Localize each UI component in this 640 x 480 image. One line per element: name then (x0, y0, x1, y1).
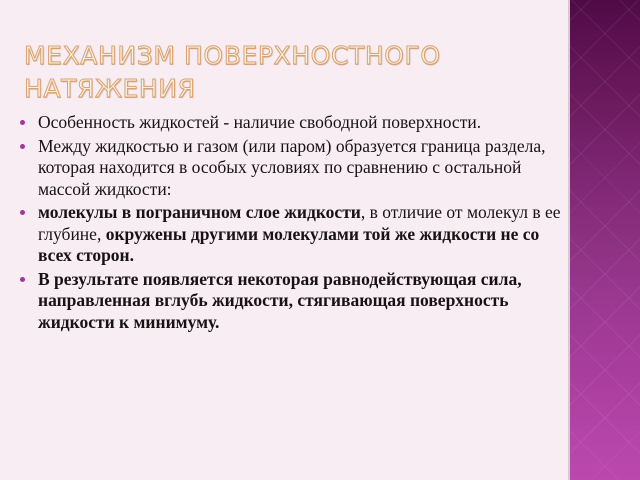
text-run: Между жидкостью и газом (или паром) обра… (38, 136, 545, 199)
list-item-text: молекулы в пограничном слое жидкости, в … (38, 202, 561, 265)
diamond-pattern-overlay (570, 0, 640, 480)
text-run-bold: молекулы в пограничном слое жидкости (38, 202, 361, 222)
bullet-dot-icon (20, 120, 25, 125)
slide-title: Механизм поверхностного натяжения (24, 39, 544, 105)
presentation-slide: Механизм поверхностного натяжения Особен… (0, 0, 640, 480)
list-item-text: Между жидкостью и газом (или паром) обра… (38, 136, 545, 199)
list-item: В результате появляется некоторая равнод… (14, 269, 562, 334)
band-edge-divider (568, 0, 570, 480)
list-item: Особенность жидкостей - наличие свободно… (14, 112, 562, 134)
bullet-dot-icon (20, 210, 25, 215)
decorative-purple-band (570, 0, 640, 480)
text-run: Особенность жидкостей - наличие свободно… (38, 112, 481, 132)
text-run-bold: В результате появляется некоторая равнод… (38, 269, 522, 332)
list-item-text: Особенность жидкостей - наличие свободно… (38, 112, 481, 132)
list-item: Между жидкостью и газом (или паром) обра… (14, 136, 562, 201)
text-run-bold: окружены другими молекулами той же жидко… (38, 224, 539, 266)
bullet-dot-icon (20, 144, 25, 149)
list-item: молекулы в пограничном слое жидкости, в … (14, 202, 562, 267)
list-item-text: В результате появляется некоторая равнод… (38, 269, 522, 332)
bullet-list: Особенность жидкостей - наличие свободно… (14, 112, 562, 335)
bullet-dot-icon (20, 277, 25, 282)
